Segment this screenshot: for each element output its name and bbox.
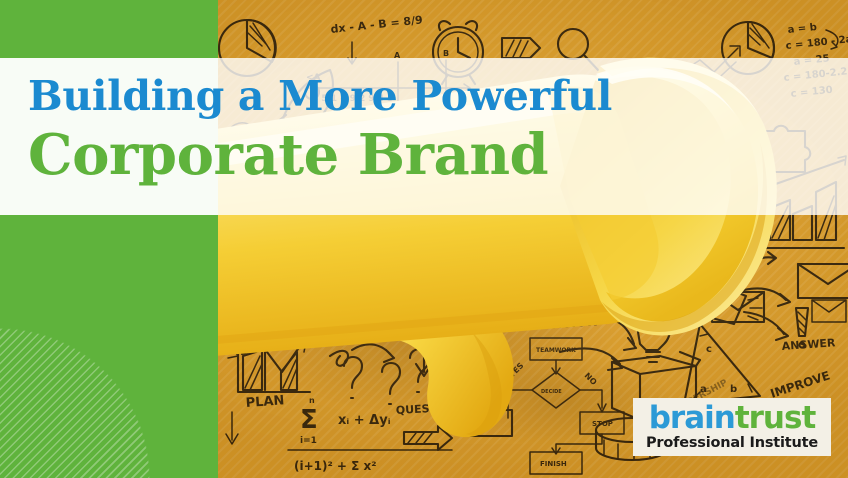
- logo-subtitle: Professional Institute: [646, 435, 818, 452]
- logo-wordmark: braintrust: [649, 402, 816, 434]
- hatch-pattern: [0, 328, 150, 478]
- logo-brain-text: brain: [649, 400, 735, 436]
- page-title-line2: Corporate Brand: [28, 122, 848, 188]
- logo-trust-text: trust: [735, 400, 815, 436]
- promotional-banner: dx - A - B = 8/9 4 5 1 4 9 2 9 4 3 <A A …: [0, 0, 848, 478]
- title-block: Building a More Powerful Corporate Brand: [0, 58, 848, 215]
- braintrust-logo: braintrust Professional Institute: [633, 398, 831, 456]
- page-title-line1: Building a More Powerful: [28, 70, 848, 122]
